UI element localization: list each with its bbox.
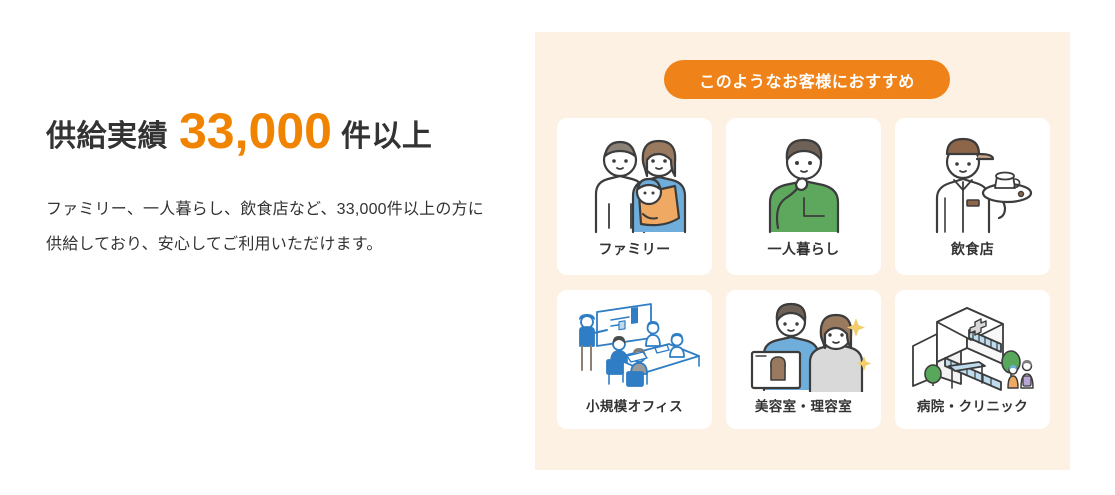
recommendation-panel: このようなお客様におすすめ — [535, 32, 1070, 470]
card-label: 小規模オフィス — [586, 395, 683, 429]
card-hair-salon[interactable]: 美容室・理容室 — [726, 290, 881, 429]
customer-type-grid: ファミリー — [557, 118, 1049, 429]
card-small-office[interactable]: 小規模オフィス — [557, 290, 712, 429]
small-office-meeting-illustration — [567, 296, 703, 395]
card-family[interactable]: ファミリー — [557, 118, 712, 275]
body-paragraph: ファミリー、一人暮らし、飲食店など、33,000件以上の方に供給しており、安心し… — [46, 192, 486, 262]
headline-prefix: 供給実績 — [46, 122, 168, 152]
hair-salon-illustration — [736, 296, 872, 395]
card-single-living[interactable]: 一人暮らし — [726, 118, 881, 275]
headline: 供給実績 33,000 件以上 — [46, 104, 496, 154]
recommendation-badge-label: このようなお客様におすすめ — [699, 68, 915, 92]
promo-section: 供給実績 33,000 件以上 ファミリー、一人暮らし、飲食店など、33,000… — [0, 0, 1115, 495]
card-hospital-clinic[interactable]: 病院・クリニック — [895, 290, 1050, 429]
card-label: 病院・クリニック — [917, 395, 1028, 429]
headline-suffix: 件以上 — [341, 122, 433, 152]
card-label: 一人暮らし — [768, 239, 840, 275]
headline-number: 33,000 — [168, 106, 341, 156]
family-illustration — [571, 128, 699, 239]
recommendation-badge: このようなお客様におすすめ — [664, 60, 950, 99]
hospital-building-illustration — [905, 296, 1041, 395]
card-restaurant[interactable]: 飲食店 — [895, 118, 1050, 275]
left-text-column: 供給実績 33,000 件以上 ファミリー、一人暮らし、飲食店など、33,000… — [46, 104, 496, 262]
restaurant-waiter-illustration — [909, 128, 1037, 239]
card-label: ファミリー — [599, 239, 671, 275]
card-label: 美容室・理容室 — [755, 395, 852, 429]
single-person-illustration — [740, 128, 868, 239]
card-label: 飲食店 — [951, 239, 994, 275]
